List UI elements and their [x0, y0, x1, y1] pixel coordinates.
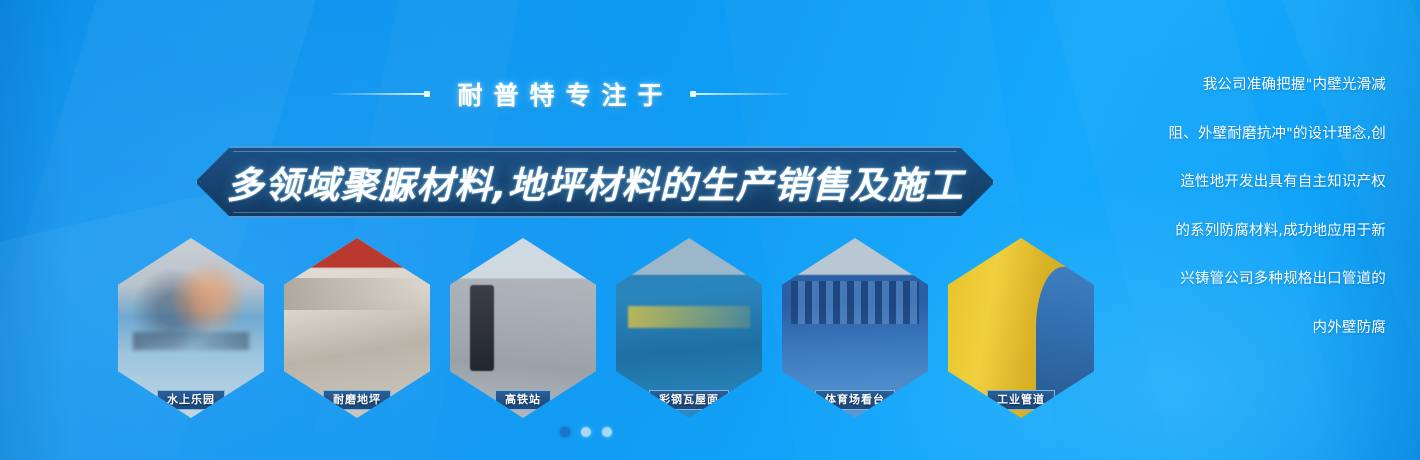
tagline-row: 耐普特专注于: [0, 76, 1120, 112]
left-rule-decoration: [332, 93, 428, 95]
description-line: 我公司准确把握"内壁光滑减: [1168, 78, 1386, 93]
description-line: 阻、外壁耐磨抗冲"的设计理念,创: [1168, 127, 1386, 142]
carousel-dot-1[interactable]: [560, 427, 570, 437]
carousel-dot-2[interactable]: [581, 427, 591, 437]
headline-plaque: 多领域聚脲材料,地坪材料的生产销售及施工: [195, 146, 995, 218]
banner-tagline: 耐普特专注于: [446, 76, 673, 112]
thumbnail-caption: 体育场看台: [815, 390, 895, 410]
thumbnail-caption: 耐磨地坪: [323, 390, 391, 410]
thumbnail-stadium-grandstand[interactable]: 体育场看台: [782, 238, 928, 418]
description-line: 的系列防腐材料,成功地应用于新: [1168, 224, 1386, 239]
carousel-dot-3[interactable]: [602, 427, 612, 437]
company-description: 我公司准确把握"内壁光滑减 阻、外壁耐磨抗冲"的设计理念,创 造性地开发出具有自…: [1168, 78, 1386, 335]
thumbnail-wear-resistant-floor[interactable]: 耐磨地坪: [284, 238, 430, 418]
thumbnail-caption: 彩钢瓦屋面: [649, 390, 729, 410]
right-rule-decoration: [692, 93, 788, 95]
carousel-dots[interactable]: [560, 427, 612, 437]
thumbnail-industrial-pipeline[interactable]: 工业管道: [948, 238, 1094, 418]
description-line: 内外壁防腐: [1168, 321, 1386, 336]
thumbnail-color-steel-tile-roof[interactable]: 彩钢瓦屋面: [616, 238, 762, 418]
banner-headline: 多领域聚脲材料,地坪材料的生产销售及施工: [226, 155, 963, 209]
thumbnail-caption: 工业管道: [987, 390, 1055, 410]
thumbnail-row: 水上乐园 耐磨地坪 高铁站 彩钢瓦屋面 体育场看台 工业管道: [118, 238, 1078, 418]
description-line: 造性地开发出具有自主知识产权: [1168, 175, 1386, 190]
thumbnail-high-speed-rail-station[interactable]: 高铁站: [450, 238, 596, 418]
description-line: 兴铸管公司多种规格出口管道的: [1168, 272, 1386, 287]
thumbnail-water-park[interactable]: 水上乐园: [118, 238, 264, 418]
thumbnail-caption: 水上乐园: [157, 390, 225, 410]
thumbnail-caption: 高铁站: [495, 390, 551, 410]
promo-banner: 耐普特专注于 多领域聚脲材料,地坪材料的生产销售及施工 水上乐园 耐磨地坪 高铁…: [0, 0, 1420, 460]
